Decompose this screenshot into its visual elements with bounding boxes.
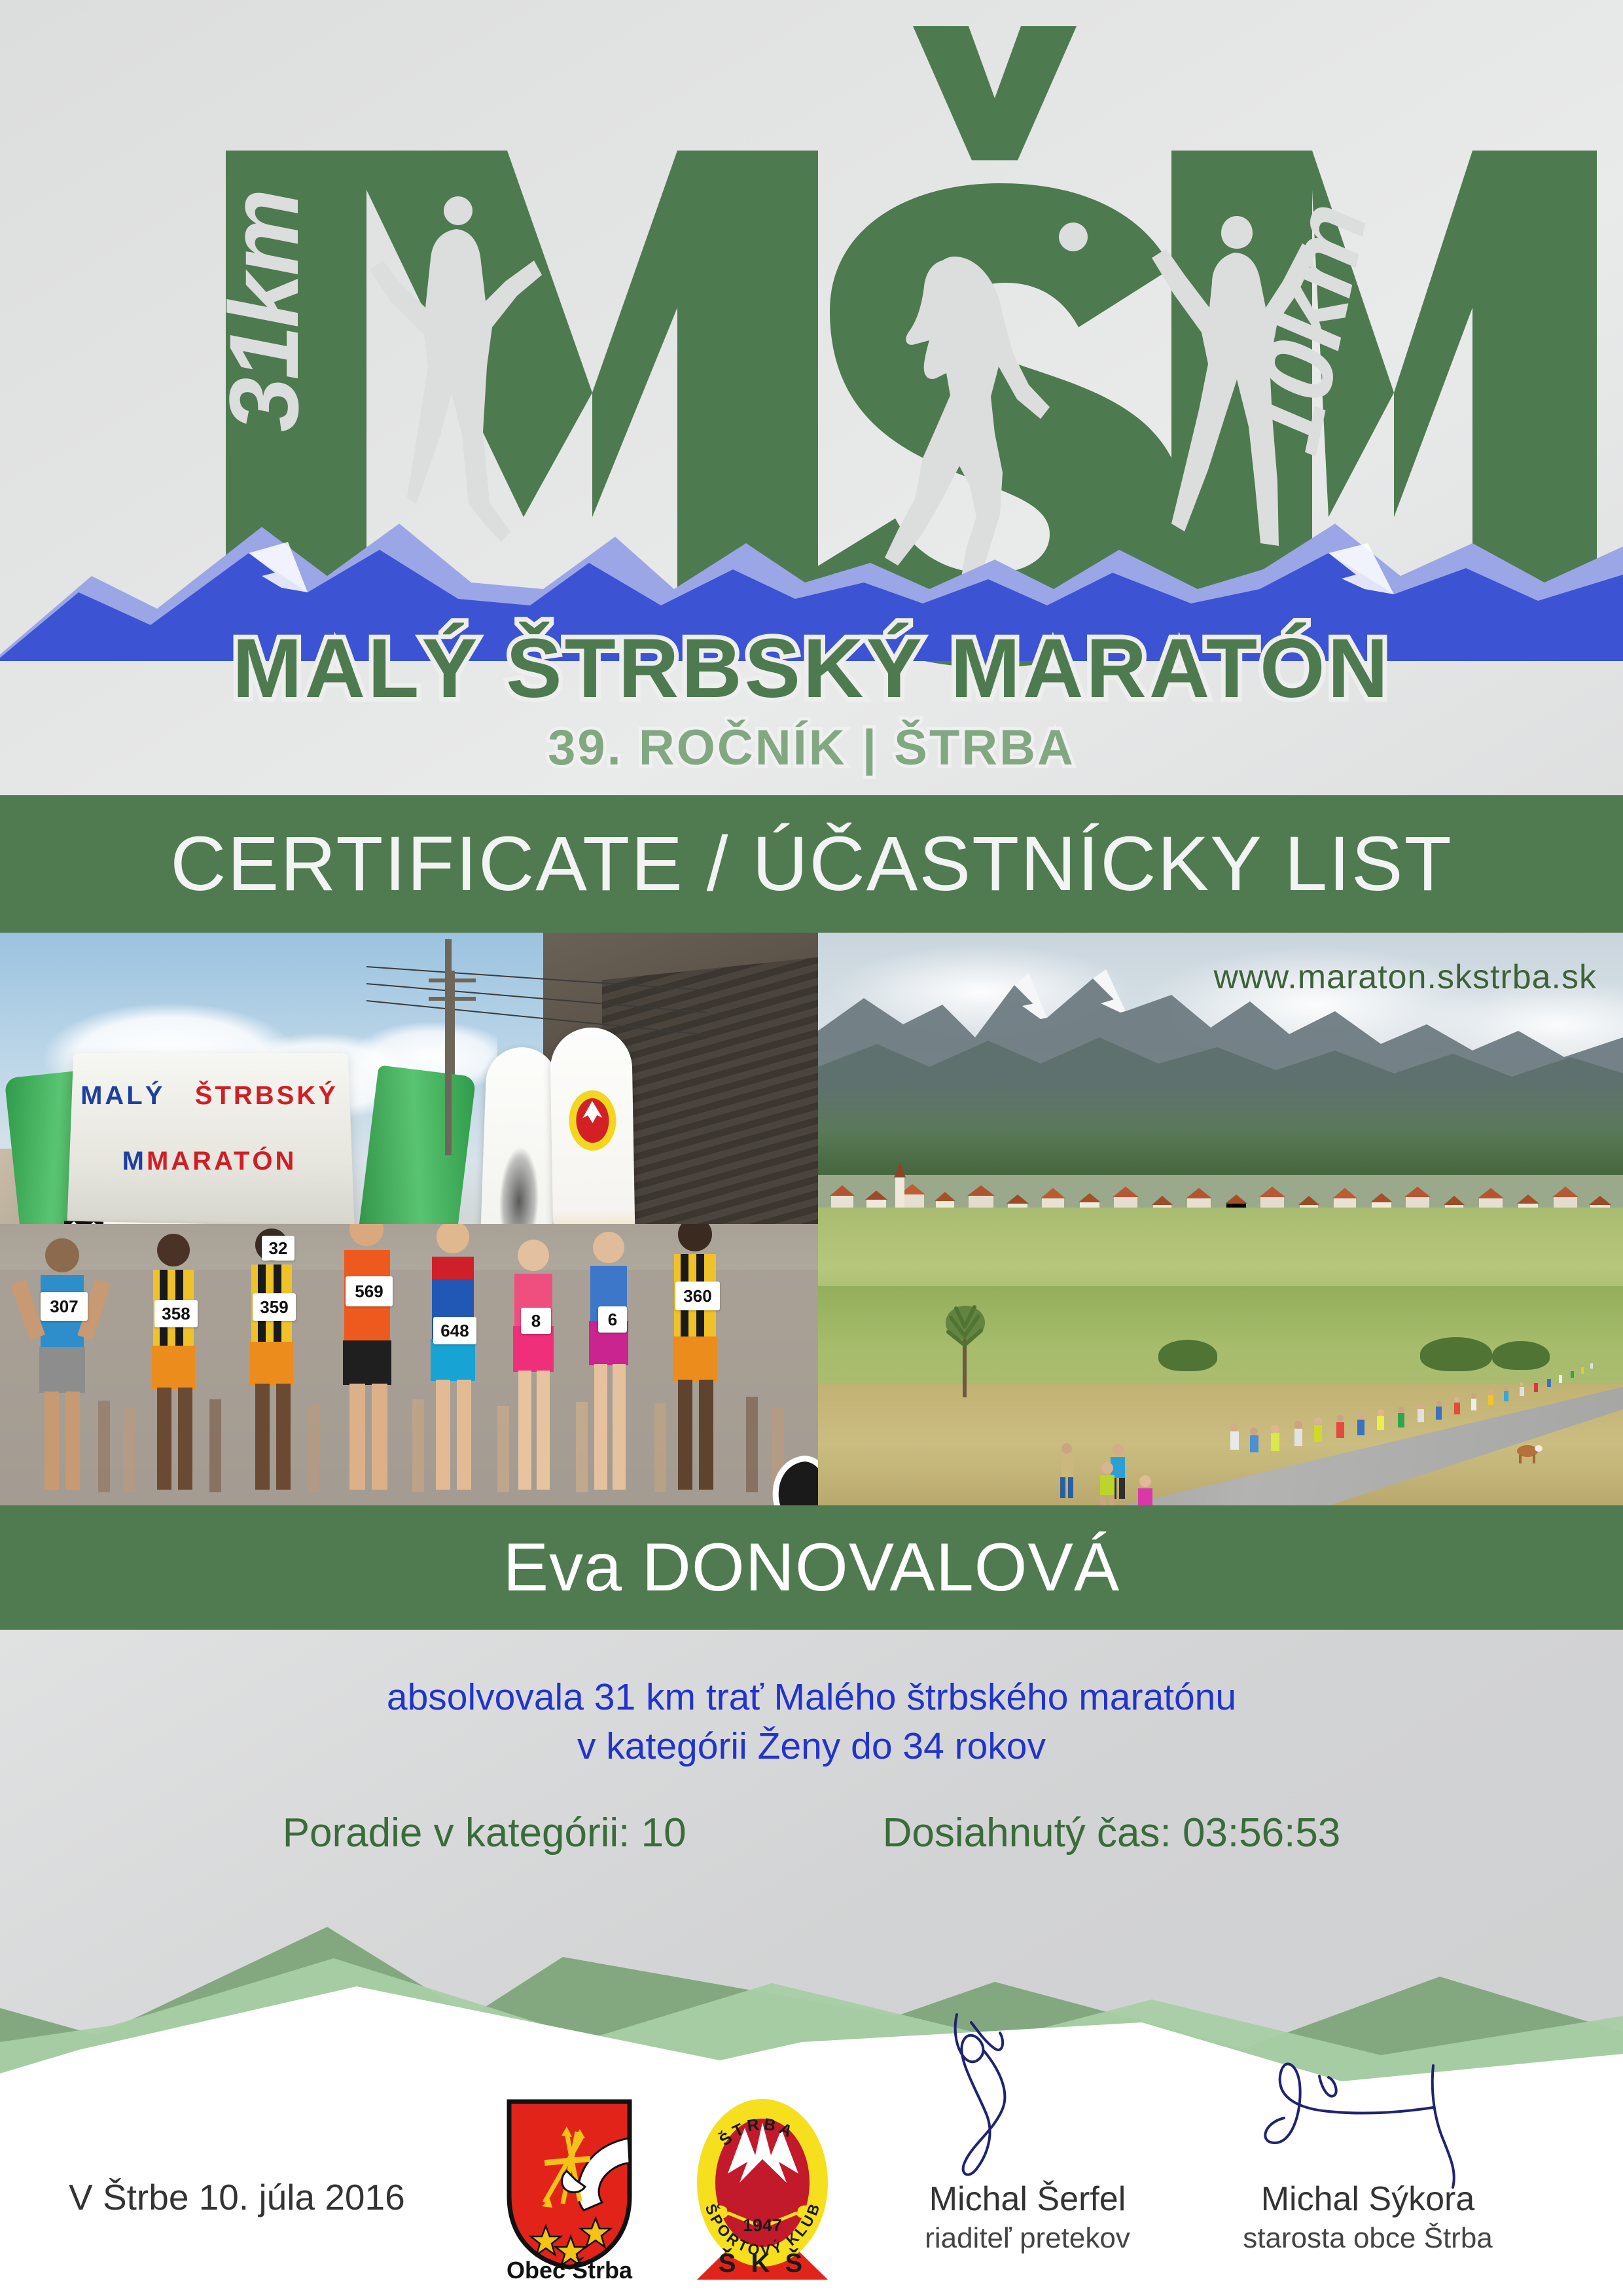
cow [1512,1442,1543,1464]
lone-tree [939,1299,991,1397]
signatory-name: Michal Sýkora [1198,2179,1538,2219]
signature-director [916,2003,1139,2199]
runner-bib: 8 [521,1308,551,1334]
arch-word-maraton: MARATÓN [147,1147,296,1175]
sks-bottom-text: Š K Š [719,2248,806,2278]
runner-bib: 307 [41,1292,88,1321]
participant-details: absolvovala 31 km trať Malého štrbského … [0,1630,1623,1905]
arch-word-strbsky: ŠTRBSKÝ [195,1081,338,1110]
runner-bib: 6 [598,1306,627,1333]
arch-word-maly: MALÝ [80,1081,165,1110]
achievement-line-1: absolvovala 31 km trať Malého štrbského … [0,1676,1623,1719]
signatory-name: Michal Šerfel [857,2179,1198,2219]
signature-mayor [1237,2003,1499,2199]
runner-bib: 569 [346,1276,393,1306]
event-logo: 31km [0,0,1623,795]
certificate-banner-text: CERTIFICATE / ÚČASTNÍCKY LIST [170,819,1452,908]
certificate-page: 31km [0,0,1623,2296]
runner-crowd: 307 358 359 569 648 8 6 360 32 [0,1224,818,1505]
utility-pole [445,939,452,1155]
obec-strba-emblem [504,2098,635,2271]
certificate-banner: CERTIFICATE / ÚČASTNÍCKY LIST [0,795,1623,933]
distance-31km: 31km [209,191,319,432]
logo-subtitle: 39. ROČNÍK | ŠTRBA [548,720,1075,776]
runner-bib: 32 [262,1236,294,1261]
logo-graphic: 31km [0,0,1623,795]
runner-bib: 648 [433,1317,476,1344]
runners-on-road [1034,1352,1623,1505]
website-url[interactable]: www.maraton.skstrba.sk [1214,958,1597,997]
runner-bib: 359 [253,1293,296,1321]
participant-name-banner: Eva DONOVALOVÁ [0,1505,1623,1630]
svg-text:31km: 31km [209,191,319,432]
obec-strba-label: Obec Štrba [488,2257,651,2284]
logo-title: MALÝ ŠTRBSKÝ MARATÓN [232,622,1391,715]
issue-date: V Štrbe 10. júla 2016 [69,2176,405,2218]
photo-strip: MALÝ ŠTRBSKÝ MMARATÓN ŠTART - CIEĽ [0,933,1623,1505]
signatory-role: starosta obce Štrba [1198,2222,1538,2255]
sks-year: 1947 [743,2215,782,2235]
crowd-graphic [0,1224,818,1505]
footer: V Štrbe 10. júla 2016 [0,2081,1623,2296]
signatory-role: riaditeľ pretekov [857,2222,1198,2255]
participant-name: Eva DONOVALOVÁ [503,1529,1120,1607]
msm-runner-badge: MŠM [707,1450,818,1505]
sks-flag-emblem [565,1086,620,1158]
arch-text-line2: MMARATÓN [79,1147,340,1176]
logo-caron [913,26,1077,160]
runner-bib: 358 [154,1300,198,1327]
arch-text-line1: MALÝ ŠTRBSKÝ [79,1081,340,1111]
photo-tatra-landscape: www.maraton.skstrba.sk [818,933,1623,1505]
finish-time: Dosiahnutý čas: 03:56:53 [883,1810,1341,1856]
results-row: Poradie v kategórii: 10 Dosiahnutý čas: … [0,1810,1623,1856]
photo-race-start: MALÝ ŠTRBSKÝ MMARATÓN ŠTART - CIEĽ [0,933,818,1505]
sks-club-emblem: ŠTRBA ŠPORTOVÝ KLUB 1947 Š K Š [687,2091,838,2281]
runner-silhouette-man [1073,216,1102,245]
runner-bib: 360 [675,1282,720,1310]
category-rank: Poradie v kategórii: 10 [283,1810,687,1856]
achievement-line-2: v kategórii Ženy do 34 rokov [0,1725,1623,1768]
